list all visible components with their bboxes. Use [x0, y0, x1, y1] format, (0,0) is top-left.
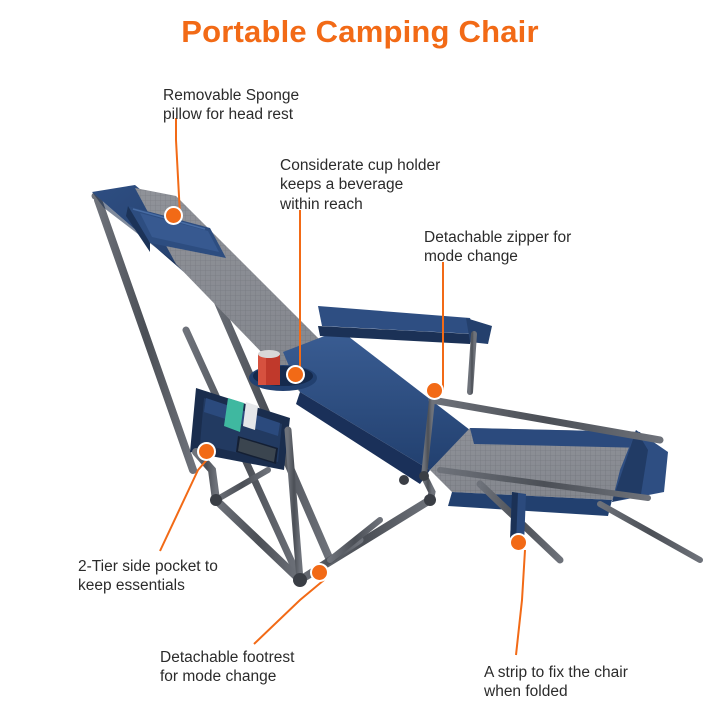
callout-label-strip: A strip to fix the chair when folded	[484, 663, 628, 702]
callout-label-cup-holder: Considerate cup holder keeps a beverage …	[280, 156, 440, 214]
callout-dot-side-pocket	[199, 444, 214, 459]
callout-dot-strip	[511, 535, 526, 550]
callout-dot-zipper	[427, 383, 442, 398]
callout-dot-cup-holder	[288, 367, 303, 382]
callout-label-footrest: Detachable footrest for mode change	[160, 648, 294, 687]
callout-label-side-pocket: 2-Tier side pocket to keep essentials	[78, 557, 218, 596]
callout-dot-pillow	[166, 208, 181, 223]
product-infographic: Portable Camping Chair	[0, 0, 720, 720]
callout-label-zipper: Detachable zipper for mode change	[424, 228, 571, 267]
callout-label-pillow: Removable Sponge pillow for head rest	[163, 86, 299, 125]
product-image	[0, 0, 720, 720]
callout-dot-footrest	[312, 565, 327, 580]
